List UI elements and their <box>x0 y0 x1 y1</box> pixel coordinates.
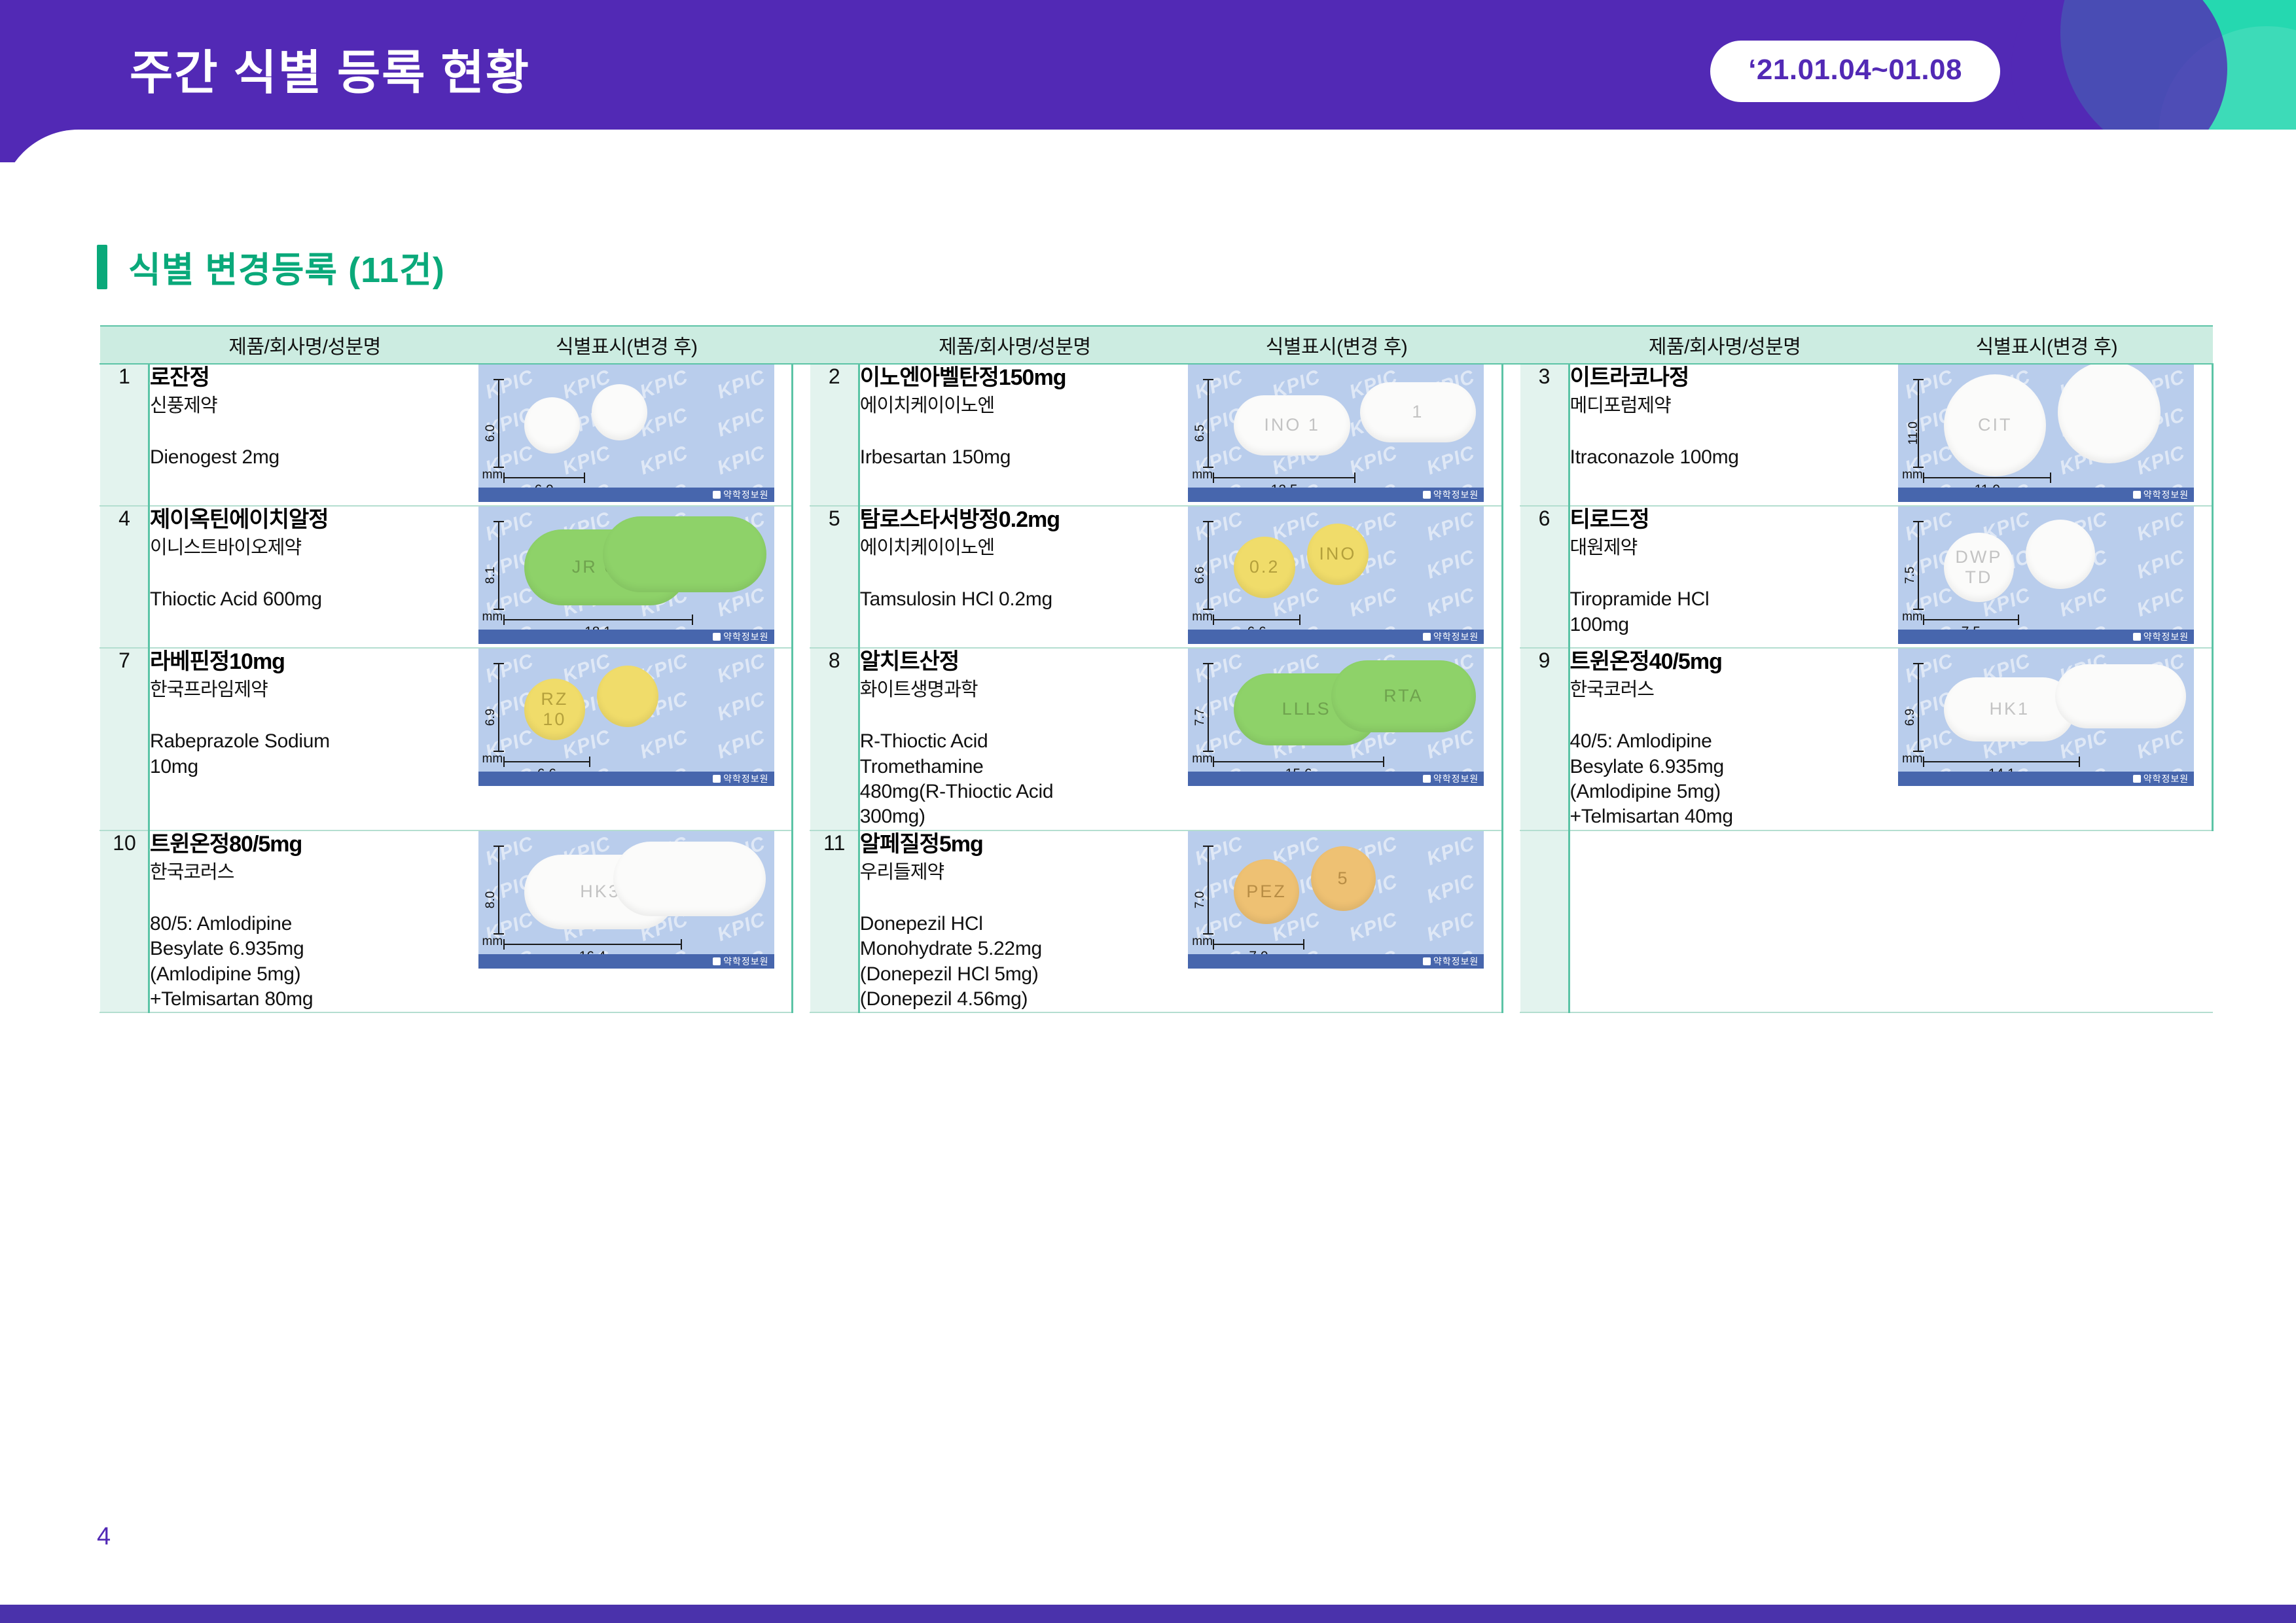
photo-source-footer: 약학정보원 <box>1898 630 2194 644</box>
row-index: 1 <box>100 364 149 506</box>
pill-back <box>603 516 766 592</box>
kpic-logo-icon <box>2133 633 2141 641</box>
ingredient-text: Rabeprazole Sodium10mg <box>150 729 461 779</box>
company-name: 한국코러스 <box>1570 678 1881 703</box>
width-ruler <box>503 761 591 762</box>
section-title-label: 식별 변경등록 (11건) <box>128 241 445 293</box>
company-name: 우리들제약 <box>860 861 1171 885</box>
photo-source-footer: 약학정보원 <box>478 772 774 786</box>
pill-back: INO <box>1307 524 1369 585</box>
table-row: 4 제이옥틴에이치알정 이니스트바이오제약 Thioctic Acid 600m… <box>100 506 2213 648</box>
pill-front: 0.2 <box>1234 537 1295 598</box>
col-index-3 <box>1520 326 1570 364</box>
kpic-logo-icon <box>1423 957 1431 965</box>
mm-unit-label: mm <box>482 752 503 766</box>
date-range-badge: ‘21.01.04~01.08 <box>1710 41 2000 102</box>
company-name: 한국프라임제약 <box>150 678 461 703</box>
ingredient-line: Tamsulosin HCl 0.2mg <box>860 587 1171 612</box>
ingredient-line: (Donepezil HCl 5mg) <box>860 962 1171 987</box>
ingredient-line: (Amlodipine 5mg) <box>150 962 461 987</box>
kpic-logo-icon <box>713 957 721 965</box>
photo-source-footer: 약학정보원 <box>1188 630 1484 644</box>
company-name: 대원제약 <box>1570 536 1881 561</box>
pill-image-cell[interactable]: KPICKPICKPICKPICKPICKPICKPICKPICKPICKPIC… <box>1170 648 1502 830</box>
pill-photo-1: KPICKPICKPICKPICKPICKPICKPICKPICKPICKPIC… <box>478 365 774 502</box>
height-measure-label: 6.5 <box>1193 425 1208 442</box>
table-row: 1 로잔정 신풍제약 Dienogest 2mg KPICKPICKPICKPI… <box>100 364 2213 506</box>
row-index: 8 <box>810 648 859 830</box>
width-ruler <box>1923 619 2019 620</box>
width-ruler <box>503 619 693 620</box>
kpic-watermark: KPIC <box>482 508 537 546</box>
column-spacer-2 <box>1503 326 1520 364</box>
col-product-3: 제품/회사명/성분명 <box>1569 326 1880 364</box>
ingredient-line: (Donepezil 4.56mg) <box>860 987 1171 1012</box>
photo-source-footer: 약학정보원 <box>1898 488 2194 502</box>
pill-back <box>592 384 647 440</box>
row-index: 6 <box>1520 506 1570 648</box>
ingredient-line: Itraconazole 100mg <box>1570 445 1881 470</box>
product-name: 알페질정5mg <box>860 831 1171 858</box>
width-ruler <box>1213 761 1384 762</box>
row-spacer <box>793 830 810 1013</box>
kpic-watermark: KPIC <box>1193 650 1247 688</box>
company-name: 이니스트바이오제약 <box>150 536 461 561</box>
mm-unit-label: mm <box>482 610 503 624</box>
mm-unit-label: mm <box>482 935 503 949</box>
height-ruler <box>1918 521 1919 610</box>
col-image-3: 식별표시(변경 후) <box>1880 326 2212 364</box>
pill-image-cell[interactable]: KPICKPICKPICKPICKPICKPICKPICKPICKPICKPIC… <box>1880 364 2212 506</box>
ingredient-line: (Amlodipine 5mg) <box>1570 779 1881 804</box>
col-image-2: 식별표시(변경 후) <box>1170 326 1502 364</box>
height-ruler <box>1208 846 1209 935</box>
kpic-watermark: KPIC <box>1424 908 1479 946</box>
company-name: 에이치케이이노엔 <box>860 536 1171 561</box>
product-info-cell[interactable]: 이노엔아벨탄정150mg 에이치케이이노엔 Irbesartan 150mg <box>859 364 1170 506</box>
kpic-watermark: KPIC <box>1903 366 1957 404</box>
photo-source-label: 약학정보원 <box>1433 955 1479 968</box>
pill-image-cell[interactable]: KPICKPICKPICKPICKPICKPICKPICKPICKPICKPIC… <box>1170 506 1502 648</box>
product-info-cell[interactable]: 탐로스타서방정0.2mg 에이치케이이노엔 Tamsulosin HCl 0.2… <box>859 506 1170 648</box>
kpic-watermark: KPIC <box>2134 508 2189 546</box>
ingredient-line: +Telmisartan 40mg <box>1570 804 1881 829</box>
photo-source-footer: 약학정보원 <box>478 630 774 644</box>
pill-image-cell[interactable]: KPICKPICKPICKPICKPICKPICKPICKPICKPICKPIC… <box>461 830 793 1013</box>
mm-unit-label: mm <box>1192 935 1213 949</box>
photo-source-footer: 약학정보원 <box>1188 772 1484 786</box>
pill-image-cell[interactable]: KPICKPICKPICKPICKPICKPICKPICKPICKPICKPIC… <box>1170 364 1502 506</box>
row-index: 7 <box>100 648 149 830</box>
height-measure-label: 7.0 <box>1193 891 1208 908</box>
kpic-logo-icon <box>1423 775 1431 783</box>
pill-back: 1 <box>1360 382 1477 442</box>
ingredient-line: 40/5: Amlodipine <box>1570 729 1881 754</box>
width-ruler <box>1213 619 1300 620</box>
kpic-watermark: KPIC <box>1347 584 1401 622</box>
row-spacer <box>793 506 810 648</box>
product-name: 라베핀정10mg <box>150 649 461 675</box>
empty-product-cell <box>1569 830 1880 1013</box>
product-info-cell[interactable]: 로잔정 신풍제약 Dienogest 2mg <box>149 364 461 506</box>
kpic-logo-icon <box>713 775 721 783</box>
kpic-watermark: KPIC <box>2057 584 2111 622</box>
ingredient-text: Thioctic Acid 600mg <box>150 587 461 612</box>
photo-source-label: 약학정보원 <box>1433 772 1479 785</box>
identification-change-table: 제품/회사명/성분명 식별표시(변경 후) 제품/회사명/성분명 식별표시(변경… <box>99 325 2214 1013</box>
height-measure-label: 8.1 <box>484 567 498 584</box>
product-info-cell[interactable]: 라베핀정10mg 한국프라임제약 Rabeprazole Sodium10mg <box>149 648 461 830</box>
page-number: 4 <box>97 1523 111 1551</box>
col-index-2 <box>810 326 859 364</box>
kpic-watermark: KPIC <box>714 366 768 404</box>
slide-page: 주간 식별 등록 현황 ‘21.01.04~01.08 식별 변경등록 (11건… <box>0 0 2296 1623</box>
ingredient-line: Tromethamine <box>860 755 1171 779</box>
kpic-watermark: KPIC <box>714 650 768 688</box>
kpic-watermark: KPIC <box>2134 584 2189 622</box>
kpic-watermark: KPIC <box>714 688 768 726</box>
ingredient-text: Dienogest 2mg <box>150 445 461 470</box>
pill-front: HK1 <box>1944 677 2075 741</box>
product-name: 이트라코나정 <box>1570 365 1881 391</box>
pill-photo-4: KPICKPICKPICKPICKPICKPICKPICKPICKPICKPIC… <box>478 507 774 644</box>
ingredient-line: Irbesartan 150mg <box>860 445 1171 470</box>
pill-photo-3: KPICKPICKPICKPICKPICKPICKPICKPICKPICKPIC… <box>1898 365 2194 502</box>
kpic-watermark: KPIC <box>637 366 691 404</box>
photo-source-label: 약학정보원 <box>2144 630 2189 643</box>
pill-photo-6: KPICKPICKPICKPICKPICKPICKPICKPICKPICKPIC… <box>1898 507 2194 644</box>
pill-front <box>524 397 580 453</box>
photo-source-footer: 약학정보원 <box>1188 954 1484 969</box>
pill-photo-11: KPICKPICKPICKPICKPICKPICKPICKPICKPICKPIC… <box>1188 831 1484 969</box>
width-ruler <box>503 944 682 945</box>
company-name: 신풍제약 <box>150 394 461 419</box>
ingredient-text: R-Thioctic AcidTromethamine480mg(R-Thioc… <box>860 729 1171 830</box>
height-ruler <box>498 846 499 935</box>
width-ruler <box>1213 944 1304 945</box>
table-row: 10 트윈온정80/5mg 한국코러스 80/5: AmlodipineBesy… <box>100 830 2213 1013</box>
pill-image-cell[interactable]: KPICKPICKPICKPICKPICKPICKPICKPICKPICKPIC… <box>1880 506 2212 648</box>
kpic-logo-icon <box>713 633 721 641</box>
row-index: 11 <box>810 830 859 1013</box>
mm-unit-label: mm <box>1192 468 1213 482</box>
kpic-logo-icon <box>2133 775 2141 783</box>
height-ruler <box>498 663 499 752</box>
ingredient-text: 40/5: AmlodipineBesylate 6.935mg(Amlodip… <box>1570 729 1881 830</box>
kpic-watermark: KPIC <box>1193 508 1247 546</box>
height-ruler <box>1208 379 1209 468</box>
kpic-watermark: KPIC <box>1424 508 1479 546</box>
kpic-watermark: KPIC <box>1193 366 1247 404</box>
kpic-watermark: KPIC <box>1424 442 1479 480</box>
kpic-watermark: KPIC <box>637 726 691 764</box>
empty-index-cell <box>1520 830 1570 1013</box>
header-curve-shape <box>0 130 2296 162</box>
product-info-cell[interactable]: 트윈온정40/5mg 한국코러스 40/5: AmlodipineBesylat… <box>1569 648 1880 830</box>
pill-back: 5 <box>1311 846 1376 911</box>
mm-unit-label: mm <box>1902 610 1923 624</box>
pill-front: CIT <box>1944 374 2046 476</box>
row-index: 2 <box>810 364 859 506</box>
photo-source-label: 약학정보원 <box>723 955 768 968</box>
kpic-watermark: KPIC <box>1193 832 1247 870</box>
ingredient-line: 10mg <box>150 755 461 779</box>
kpic-watermark: KPIC <box>714 726 768 764</box>
company-name: 화이트생명과학 <box>860 678 1171 703</box>
ingredient-text: 80/5: AmlodipineBesylate 6.935mg(Amlodip… <box>150 912 461 1012</box>
product-info-cell[interactable]: 알치트산정 화이트생명과학 R-Thioctic AcidTromethamin… <box>859 648 1170 830</box>
pill-photo-9: KPICKPICKPICKPICKPICKPICKPICKPICKPICKPIC… <box>1898 649 2194 786</box>
product-name: 알치트산정 <box>860 649 1171 675</box>
height-ruler <box>1918 663 1919 752</box>
table-row: 7 라베핀정10mg 한국프라임제약 Rabeprazole Sodium10m… <box>100 648 2213 830</box>
pill-back <box>597 666 658 727</box>
row-index: 9 <box>1520 648 1570 830</box>
page-header: 주간 식별 등록 현황 ‘21.01.04~01.08 <box>0 0 2296 162</box>
product-name: 트윈온정80/5mg <box>150 831 461 858</box>
table-body: 1 로잔정 신풍제약 Dienogest 2mg KPICKPICKPICKPI… <box>100 364 2213 1012</box>
pill-image-cell[interactable]: KPICKPICKPICKPICKPICKPICKPICKPICKPICKPIC… <box>461 648 793 830</box>
photo-source-label: 약학정보원 <box>723 488 768 501</box>
company-name: 한국코러스 <box>150 861 461 885</box>
product-info-cell[interactable]: 이트라코나정 메디포럼제약 Itraconazole 100mg <box>1569 364 1880 506</box>
height-measure-label: 8.0 <box>484 891 498 908</box>
pill-front: DWPTD <box>1944 533 2014 603</box>
width-ruler <box>1923 761 2080 762</box>
width-ruler <box>503 477 585 478</box>
ingredient-line: R-Thioctic Acid <box>860 729 1171 754</box>
mm-unit-label: mm <box>1192 610 1213 624</box>
product-name: 로잔정 <box>150 365 461 391</box>
col-image-1: 식별표시(변경 후) <box>461 326 793 364</box>
product-name: 제이옥틴에이치알정 <box>150 507 461 533</box>
kpic-watermark: KPIC <box>1903 508 1957 546</box>
kpic-watermark: KPIC <box>482 832 537 870</box>
row-index: 5 <box>810 506 859 648</box>
product-info-cell[interactable]: 알페질정5mg 우리들제약 Donepezil HClMonohydrate 5… <box>859 830 1170 1013</box>
row-spacer <box>1503 830 1520 1013</box>
height-ruler <box>1208 663 1209 752</box>
kpic-watermark: KPIC <box>2134 726 2189 764</box>
pill-back: RTA <box>1331 660 1477 732</box>
height-ruler <box>498 521 499 610</box>
kpic-logo-icon <box>1423 633 1431 641</box>
height-measure-label: 11.0 <box>1907 421 1921 445</box>
kpic-logo-icon <box>713 491 721 499</box>
ingredient-line: 480mg(R-Thioctic Acid <box>860 779 1171 804</box>
empty-image-cell <box>1880 830 2212 1013</box>
width-ruler <box>1923 477 2051 478</box>
ingredient-line: 100mg <box>1570 613 1881 637</box>
kpic-watermark: KPIC <box>714 404 768 442</box>
ingredient-line: Rabeprazole Sodium <box>150 729 461 754</box>
ingredient-line: 80/5: Amlodipine <box>150 912 461 936</box>
ingredient-line: +Telmisartan 80mg <box>150 987 461 1012</box>
photo-source-footer: 약학정보원 <box>1188 488 1484 502</box>
pill-back <box>613 842 766 916</box>
kpic-watermark: KPIC <box>2134 546 2189 584</box>
ingredient-line: Tiropramide HCl <box>1570 587 1881 612</box>
ingredient-line: Besylate 6.935mg <box>1570 755 1881 779</box>
ingredient-text: Tiropramide HCl100mg <box>1570 587 1881 637</box>
ingredient-text: Itraconazole 100mg <box>1570 445 1881 470</box>
row-index: 10 <box>100 830 149 1013</box>
pill-photo-10: KPICKPICKPICKPICKPICKPICKPICKPICKPICKPIC… <box>478 831 774 969</box>
mm-unit-label: mm <box>1902 752 1923 766</box>
pill-front: PEZ <box>1234 859 1299 924</box>
photo-source-label: 약학정보원 <box>2144 488 2189 501</box>
photo-source-label: 약학정보원 <box>1433 488 1479 501</box>
ingredient-line: Besylate 6.935mg <box>150 936 461 961</box>
kpic-watermark: KPIC <box>714 442 768 480</box>
ingredient-line: Thioctic Acid 600mg <box>150 587 461 612</box>
photo-source-label: 약학정보원 <box>723 630 768 643</box>
photo-source-footer: 약학정보원 <box>478 488 774 502</box>
ingredient-text: Donepezil HClMonohydrate 5.22mg(Donepezi… <box>860 912 1171 1012</box>
kpic-watermark: KPIC <box>482 650 537 688</box>
pill-photo-5: KPICKPICKPICKPICKPICKPICKPICKPICKPICKPIC… <box>1188 507 1484 644</box>
product-info-cell[interactable]: 트윈온정80/5mg 한국코러스 80/5: AmlodipineBesylat… <box>149 830 461 1013</box>
kpic-watermark: KPIC <box>482 366 537 404</box>
height-measure-label: 7.5 <box>1903 567 1918 584</box>
pill-front: INO 1 <box>1234 395 1350 455</box>
pill-image-cell[interactable]: KPICKPICKPICKPICKPICKPICKPICKPICKPICKPIC… <box>461 364 793 506</box>
pill-photo-2: KPICKPICKPICKPICKPICKPICKPICKPICKPICKPIC… <box>1188 365 1484 502</box>
table-header-row: 제품/회사명/성분명 식별표시(변경 후) 제품/회사명/성분명 식별표시(변경… <box>100 326 2213 364</box>
kpic-watermark: KPIC <box>637 442 691 480</box>
mm-unit-label: mm <box>1902 468 1923 482</box>
product-info-cell[interactable]: 티로드정 대원제약 Tiropramide HCl100mg <box>1569 506 1880 648</box>
row-spacer <box>1503 648 1520 830</box>
photo-source-label: 약학정보원 <box>2144 772 2189 785</box>
pill-image-cell[interactable]: KPICKPICKPICKPICKPICKPICKPICKPICKPICKPIC… <box>461 506 793 648</box>
col-product-2: 제품/회사명/성분명 <box>859 326 1170 364</box>
col-index-1 <box>100 326 149 364</box>
pill-photo-8: KPICKPICKPICKPICKPICKPICKPICKPICKPICKPIC… <box>1188 649 1484 786</box>
kpic-watermark: KPIC <box>1424 584 1479 622</box>
kpic-watermark: KPIC <box>1903 650 1957 688</box>
height-ruler <box>498 379 499 468</box>
pill-back <box>2058 365 2160 463</box>
ingredient-text: Tamsulosin HCl 0.2mg <box>860 587 1171 612</box>
section-accent-bar <box>97 245 107 289</box>
photo-source-footer: 약학정보원 <box>478 954 774 969</box>
row-index: 4 <box>100 506 149 648</box>
mm-unit-label: mm <box>1192 752 1213 766</box>
row-spacer <box>1503 364 1520 506</box>
kpic-logo-icon <box>1423 491 1431 499</box>
ingredient-line: Dienogest 2mg <box>150 445 461 470</box>
ingredient-line: Donepezil HCl <box>860 912 1171 936</box>
company-name: 메디포럼제약 <box>1570 394 1881 419</box>
pill-image-cell[interactable]: KPICKPICKPICKPICKPICKPICKPICKPICKPICKPIC… <box>1880 648 2212 830</box>
height-measure-label: 6.9 <box>484 709 498 726</box>
ingredient-text: Irbesartan 150mg <box>860 445 1171 470</box>
pill-back <box>2055 664 2186 728</box>
product-info-cell[interactable]: 제이옥틴에이치알정 이니스트바이오제약 Thioctic Acid 600mg <box>149 506 461 648</box>
company-name: 에이치케이이노엔 <box>860 394 1171 419</box>
footer-bar <box>0 1605 2296 1623</box>
pill-back <box>2026 520 2096 590</box>
height-measure-label: 6.0 <box>484 425 498 442</box>
kpic-watermark: KPIC <box>1424 546 1479 584</box>
height-measure-label: 6.6 <box>1193 567 1208 584</box>
row-spacer <box>1503 506 1520 648</box>
col-product-1: 제품/회사명/성분명 <box>149 326 461 364</box>
height-ruler <box>1208 521 1209 610</box>
height-measure-label: 7.7 <box>1193 709 1208 726</box>
kpic-watermark: KPIC <box>1424 832 1479 870</box>
height-measure-label: 6.9 <box>1903 709 1918 726</box>
column-spacer-1 <box>793 326 810 364</box>
photo-source-footer: 약학정보원 <box>1898 772 2194 786</box>
product-name: 탐로스타서방정0.2mg <box>860 507 1171 533</box>
photo-source-label: 약학정보원 <box>1433 630 1479 643</box>
pill-photo-7: KPICKPICKPICKPICKPICKPICKPICKPICKPICKPIC… <box>478 649 774 786</box>
ingredient-line: 300mg) <box>860 804 1171 829</box>
ingredient-line: Monohydrate 5.22mg <box>860 936 1171 961</box>
row-spacer <box>793 648 810 830</box>
kpic-watermark: KPIC <box>1424 870 1479 908</box>
pill-image-cell[interactable]: KPICKPICKPICKPICKPICKPICKPICKPICKPICKPIC… <box>1170 830 1502 1013</box>
product-name: 티로드정 <box>1570 507 1881 533</box>
mm-unit-label: mm <box>482 468 503 482</box>
product-name: 이노엔아벨탄정150mg <box>860 365 1171 391</box>
kpic-watermark: KPIC <box>1347 908 1401 946</box>
width-ruler <box>1213 477 1355 478</box>
row-spacer <box>793 364 810 506</box>
photo-source-label: 약학정보원 <box>723 772 768 785</box>
product-name: 트윈온정40/5mg <box>1570 649 1881 675</box>
pill-front: RZ10 <box>524 679 586 740</box>
page-title: 주간 식별 등록 현황 <box>130 34 530 103</box>
section-heading: 식별 변경등록 (11건) <box>97 241 445 293</box>
row-index: 3 <box>1520 364 1570 506</box>
kpic-logo-icon <box>2133 491 2141 499</box>
